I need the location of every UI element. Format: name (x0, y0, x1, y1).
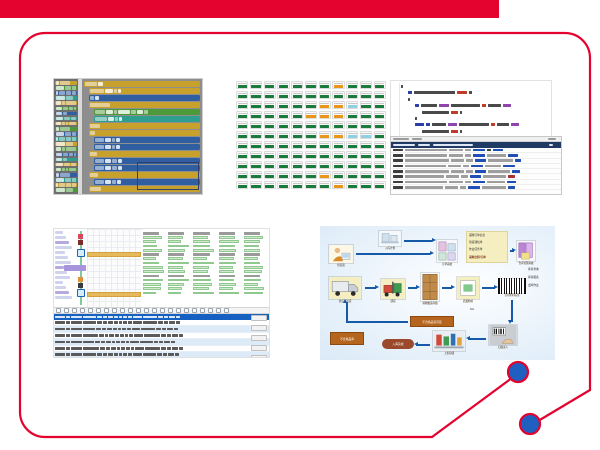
code-block[interactable] (94, 116, 200, 122)
palette-block[interactable] (55, 168, 77, 172)
palette-block[interactable] (55, 91, 77, 95)
status-cell[interactable] (332, 121, 344, 129)
code-line[interactable] (401, 85, 548, 88)
toolbar-button[interactable] (224, 308, 229, 313)
status-cell[interactable] (250, 181, 262, 189)
status-cell[interactable] (319, 151, 331, 159)
node-shelf-storage[interactable]: 上架存储 (432, 330, 466, 355)
status-cell[interactable] (277, 121, 289, 129)
column-heading (219, 275, 235, 278)
status-cell[interactable] (346, 121, 358, 129)
status-cell[interactable] (305, 91, 317, 99)
status-cell[interactable] (291, 101, 303, 109)
toolbar-button[interactable] (112, 308, 117, 313)
status-cell[interactable] (236, 121, 248, 129)
status-cell[interactable] (277, 91, 289, 99)
code-block[interactable] (89, 95, 200, 101)
palette-block[interactable] (55, 101, 77, 105)
toolbar-button[interactable] (120, 308, 125, 313)
palette-block[interactable] (55, 173, 77, 177)
table-side-buttons[interactable] (251, 315, 267, 358)
status-cell[interactable] (305, 161, 317, 169)
spreadsheet-grid-area[interactable] (87, 229, 141, 307)
handheld-scanner-icon (488, 324, 518, 346)
node-inbound-plan-label: 入库计划 (385, 248, 395, 251)
palette-block[interactable] (55, 107, 77, 111)
status-grid-screenshot[interactable] (236, 81, 386, 195)
node-warehouse-mgmt-label: 仓库管理系统 (519, 263, 534, 266)
toolbar-button[interactable] (216, 308, 221, 313)
table-header-cell[interactable] (55, 316, 65, 318)
toolbar-button[interactable] (192, 308, 197, 313)
status-cell[interactable] (291, 111, 303, 119)
arrowhead-9 (466, 336, 470, 340)
status-cell[interactable] (374, 131, 386, 139)
track-flag-2 (78, 240, 83, 245)
node-supplier-person[interactable]: 供应商 (328, 244, 354, 267)
status-cell[interactable] (291, 151, 303, 159)
code-line[interactable] (415, 104, 548, 107)
column-value (168, 287, 182, 290)
track-node-1[interactable] (77, 249, 85, 257)
log-output-screenshot[interactable] (390, 136, 562, 195)
status-cell[interactable] (319, 161, 331, 169)
column-value (219, 262, 237, 265)
status-cell[interactable] (319, 141, 331, 149)
blocks-selection-box (137, 162, 199, 190)
toolbar-button[interactable] (144, 308, 149, 313)
toolbar-button[interactable] (64, 308, 69, 313)
status-cell[interactable] (319, 111, 331, 119)
status-cell[interactable] (264, 131, 276, 139)
status-cell[interactable] (264, 81, 276, 89)
status-cell[interactable] (305, 81, 317, 89)
status-cell[interactable] (319, 101, 331, 109)
status-cell[interactable] (236, 81, 248, 89)
status-cell[interactable] (305, 121, 317, 129)
status-cell[interactable] (346, 151, 358, 159)
column-value (168, 240, 181, 243)
spreadsheet-toolbar[interactable] (54, 307, 269, 314)
status-cell[interactable] (360, 121, 372, 129)
arrowhead-7 (494, 285, 498, 289)
table-header-cell[interactable] (128, 316, 132, 318)
status-cell[interactable] (374, 111, 386, 119)
node-reject-area[interactable]: 不合格品暂存区 (410, 316, 454, 327)
column-value (244, 292, 263, 295)
status-cell[interactable] (332, 141, 344, 149)
toolbar-button[interactable] (176, 308, 181, 313)
status-cell[interactable] (264, 171, 276, 179)
column-value (244, 287, 265, 290)
column-value (168, 262, 188, 265)
gantt-bar-1[interactable] (87, 252, 141, 257)
table-header-cell[interactable] (71, 316, 82, 318)
status-cell[interactable] (305, 101, 317, 109)
side-chip (55, 266, 64, 269)
side-action-button[interactable] (251, 315, 267, 321)
status-cell[interactable] (236, 141, 248, 149)
status-cell[interactable] (360, 111, 372, 119)
toolbar-button[interactable] (168, 308, 173, 313)
arrowhead-3 (512, 248, 516, 252)
status-cell[interactable] (250, 131, 262, 139)
status-cell[interactable] (305, 171, 317, 179)
status-cell[interactable] (250, 161, 262, 169)
status-cell[interactable] (360, 181, 372, 189)
side-chip (55, 246, 72, 249)
status-cell[interactable] (305, 131, 317, 139)
track-flag-3 (78, 277, 83, 282)
code-lines[interactable] (401, 85, 548, 142)
status-cell[interactable] (346, 171, 358, 179)
status-cell[interactable] (236, 171, 248, 179)
status-cell[interactable] (277, 161, 289, 169)
status-cell[interactable] (277, 131, 289, 139)
toolbar-button[interactable] (80, 308, 85, 313)
spreadsheet-node-track[interactable] (76, 229, 87, 307)
table-header-cell[interactable] (66, 316, 70, 318)
status-cell[interactable] (332, 91, 344, 99)
status-cell[interactable] (332, 81, 344, 89)
palette-block[interactable] (55, 158, 77, 162)
slide-canvas: 供应商 入库计划 订单系统 采购订单信息 到货通知单 作 (0, 0, 600, 450)
code-block[interactable] (89, 102, 200, 108)
node-quality-check[interactable]: 质量检验 (456, 276, 480, 303)
status-cell[interactable] (374, 161, 386, 169)
side-action-button[interactable] (251, 345, 267, 351)
palette-block[interactable] (55, 81, 77, 85)
code-block[interactable] (89, 151, 200, 157)
status-cell[interactable] (277, 171, 289, 179)
code-block[interactable] (89, 123, 200, 129)
status-cell[interactable] (305, 141, 317, 149)
status-cell[interactable] (291, 121, 303, 129)
status-cell[interactable] (250, 91, 262, 99)
table-header-cell[interactable] (119, 316, 123, 318)
status-cell[interactable] (264, 121, 276, 129)
status-cell[interactable] (291, 91, 303, 99)
code-line[interactable] (422, 111, 548, 114)
column-heading (193, 253, 209, 256)
code-line[interactable] (408, 91, 548, 94)
side-label-2: 库存报表 (528, 276, 539, 279)
status-cell[interactable] (291, 181, 303, 189)
code-line[interactable] (408, 98, 548, 101)
palette-block[interactable] (55, 153, 77, 157)
status-cell[interactable] (374, 171, 386, 179)
spreadsheet-screenshot[interactable] (53, 228, 270, 358)
palette-block[interactable] (55, 163, 77, 167)
log-rows[interactable] (391, 148, 561, 190)
toolbar-button[interactable] (56, 308, 61, 313)
status-cell[interactable] (374, 91, 386, 99)
status-cell[interactable] (332, 111, 344, 119)
side-chip (55, 236, 66, 239)
code-line[interactable] (415, 117, 548, 120)
code-block[interactable] (94, 144, 200, 150)
palette-block[interactable] (55, 137, 77, 141)
node-supplier-person-label: 供应商 (337, 265, 344, 268)
toolbar-button[interactable] (152, 308, 157, 313)
status-cell[interactable] (346, 161, 358, 169)
plan-desk-icon (378, 230, 402, 247)
table-row[interactable] (54, 352, 269, 358)
side-chip (55, 256, 68, 259)
status-cell[interactable] (277, 101, 289, 109)
status-cell[interactable] (305, 181, 317, 189)
code-line[interactable] (422, 130, 548, 133)
data-table[interactable] (54, 314, 269, 358)
palette-block[interactable] (55, 112, 77, 116)
status-cell[interactable] (236, 101, 248, 109)
palette-block[interactable] (55, 127, 77, 131)
status-cell[interactable] (291, 161, 303, 169)
inspection-doc-icon (456, 276, 480, 300)
status-cell[interactable] (250, 81, 262, 89)
toolbar-button[interactable] (104, 308, 109, 313)
column-value (143, 292, 156, 295)
palette-block[interactable] (55, 117, 77, 121)
status-cell[interactable] (360, 81, 372, 89)
status-cell[interactable] (319, 131, 331, 139)
status-cell[interactable] (236, 111, 248, 119)
blocks-canvas[interactable] (82, 79, 202, 194)
computer-stack-icon (436, 239, 458, 263)
status-cell[interactable] (264, 181, 276, 189)
column-value (193, 257, 206, 260)
palette-block[interactable] (55, 122, 77, 126)
node-warehouse-mgmt[interactable]: 仓库管理系统 (516, 240, 536, 265)
status-cell[interactable] (264, 91, 276, 99)
column-value (219, 266, 234, 269)
blocks-editor-screenshot[interactable] (53, 78, 203, 195)
side-chip (55, 261, 71, 264)
node-quality-check-label: 质量检验 (463, 301, 473, 304)
status-cell[interactable] (264, 151, 276, 159)
status-cell[interactable] (264, 161, 276, 169)
status-cell[interactable] (319, 171, 331, 179)
status-cell[interactable] (236, 151, 248, 159)
table-header-cell[interactable] (123, 316, 127, 318)
status-cell[interactable] (360, 141, 372, 149)
status-grid-cells[interactable] (236, 81, 386, 189)
person-desk-icon (328, 244, 354, 264)
gantt-bar-2[interactable] (87, 292, 141, 297)
palette-block[interactable] (55, 147, 77, 151)
status-cell[interactable] (360, 131, 372, 139)
table-header-cell[interactable] (103, 316, 107, 318)
toolbar-button[interactable] (160, 308, 165, 313)
toolbar-button[interactable] (208, 308, 213, 313)
table-header-cell[interactable] (108, 316, 113, 318)
status-cell[interactable] (264, 111, 276, 119)
status-cell[interactable] (250, 171, 262, 179)
toolbar-button[interactable] (88, 308, 93, 313)
column-value (193, 283, 212, 286)
column-heading (244, 275, 260, 278)
status-cell[interactable] (236, 161, 248, 169)
column-value (244, 270, 263, 273)
node-order-system-label: 订单系统 (442, 264, 452, 267)
toolbar-button[interactable] (96, 308, 101, 313)
column-value (244, 240, 260, 243)
status-cell[interactable] (250, 141, 262, 149)
code-block[interactable] (89, 88, 200, 94)
side-action-button[interactable] (251, 335, 267, 341)
status-cell[interactable] (277, 181, 289, 189)
code-block[interactable] (94, 137, 200, 143)
status-cell[interactable] (332, 171, 344, 179)
node-scan-input[interactable]: 扫描录入 (488, 324, 518, 349)
table-header-cell[interactable] (158, 316, 163, 318)
status-cell[interactable] (360, 91, 372, 99)
status-cell[interactable] (332, 101, 344, 109)
table-header-cell[interactable] (164, 316, 168, 318)
table-header-cell[interactable] (176, 316, 180, 318)
status-cell[interactable] (319, 91, 331, 99)
status-cell[interactable] (250, 121, 262, 129)
column-value (143, 270, 164, 273)
track-flag-4 (78, 283, 83, 288)
status-cell[interactable] (291, 81, 303, 89)
status-cell[interactable] (346, 111, 358, 119)
table-header-cell[interactable] (133, 316, 142, 318)
node-inbound-plan[interactable]: 入库计划 (378, 230, 402, 250)
spreadsheet-upper-pane[interactable] (54, 229, 269, 307)
status-cell[interactable] (250, 111, 262, 119)
column-heading (143, 232, 159, 235)
status-cell[interactable] (332, 161, 344, 169)
log-row[interactable] (391, 185, 561, 190)
toolbar-button[interactable] (184, 308, 189, 313)
node-barcode-print-label: 打印条码标签 (505, 295, 520, 298)
table-header-cell[interactable] (83, 316, 97, 318)
column-value (193, 270, 208, 273)
status-cell[interactable] (332, 181, 344, 189)
table-body[interactable] (54, 320, 269, 358)
palette-block[interactable] (55, 86, 77, 90)
status-cell[interactable] (277, 151, 289, 159)
arrowhead-2 (432, 238, 436, 242)
node-barcode-print[interactable]: 打印条码标签 (498, 278, 526, 297)
status-cell[interactable] (319, 121, 331, 129)
column-value (168, 236, 183, 239)
code-editor-screenshot[interactable] (390, 80, 552, 142)
node-unload-forklift[interactable]: 卸货 (380, 278, 406, 303)
status-cell[interactable] (291, 171, 303, 179)
status-cell[interactable] (374, 81, 386, 89)
column-heading (168, 232, 184, 235)
status-cell[interactable] (346, 81, 358, 89)
status-cell[interactable] (319, 81, 331, 89)
palette-block[interactable] (55, 188, 77, 192)
status-cell[interactable] (346, 101, 358, 109)
node-order-system[interactable]: 订单系统 (436, 239, 458, 266)
palette-block[interactable] (55, 183, 77, 187)
table-header-cell[interactable] (169, 316, 175, 318)
palette-block[interactable] (55, 178, 77, 182)
arrowhead-1 (430, 251, 434, 255)
arrowhead-6 (451, 285, 455, 289)
status-cell[interactable] (332, 131, 344, 139)
side-chip (55, 251, 65, 254)
node-receive-cartons[interactable]: 验收搬运存储 (420, 272, 440, 305)
status-cell[interactable] (332, 151, 344, 159)
status-cell[interactable] (291, 131, 303, 139)
table-header-cell[interactable] (114, 316, 118, 318)
toolbar-button[interactable] (128, 308, 133, 313)
status-cell[interactable] (360, 161, 372, 169)
status-cell[interactable] (346, 141, 358, 149)
track-flag-1 (78, 234, 83, 239)
status-cell[interactable] (277, 111, 289, 119)
status-cell[interactable] (277, 81, 289, 89)
status-cell[interactable] (374, 151, 386, 159)
palette-block[interactable] (55, 132, 77, 136)
status-cell[interactable] (374, 181, 386, 189)
node-reject-store[interactable]: 不合格品库 (330, 332, 364, 345)
column-value (219, 292, 239, 295)
status-cell[interactable] (360, 171, 372, 179)
status-cell[interactable] (374, 101, 386, 109)
arrowhead-4 (375, 285, 379, 289)
side-chip (55, 286, 66, 289)
status-cell[interactable] (319, 181, 331, 189)
table-header-cell[interactable] (143, 316, 158, 318)
code-line[interactable] (415, 123, 548, 126)
toolbar-button[interactable] (72, 308, 77, 313)
status-cell[interactable] (250, 151, 262, 159)
track-node-2[interactable] (77, 289, 85, 297)
toolbar-button[interactable] (136, 308, 141, 313)
status-cell[interactable] (264, 141, 276, 149)
column-heading (193, 232, 209, 235)
palette-block[interactable] (55, 142, 77, 146)
warehouse-flow-diagram[interactable]: 供应商 入库计划 订单系统 采购订单信息 到货通知单 作 (320, 226, 555, 360)
status-cell[interactable] (346, 131, 358, 139)
blocks-palette[interactable] (54, 79, 78, 194)
status-cell[interactable] (250, 101, 262, 109)
column-value (244, 279, 261, 282)
toolbar-button[interactable] (200, 308, 205, 313)
status-cell[interactable] (360, 101, 372, 109)
forklift-icon (380, 278, 406, 300)
status-cell[interactable] (346, 91, 358, 99)
column-value (168, 292, 181, 295)
status-cell[interactable] (236, 91, 248, 99)
table-header-cell[interactable] (97, 316, 102, 318)
status-cell[interactable] (360, 151, 372, 159)
status-cell[interactable] (346, 181, 358, 189)
code-block[interactable] (89, 130, 200, 136)
status-cell[interactable] (305, 151, 317, 159)
status-cell[interactable] (236, 131, 248, 139)
node-purchase-docs[interactable]: 采购订单信息 到货通知单 作业任务单 采购合同/订单 (466, 231, 508, 263)
status-cell[interactable] (374, 141, 386, 149)
status-cell[interactable] (305, 111, 317, 119)
code-block[interactable] (84, 81, 200, 87)
node-inbound-complete[interactable]: 入库完成 (382, 339, 414, 349)
status-cell[interactable] (291, 141, 303, 149)
palette-block[interactable] (55, 96, 77, 100)
side-action-button[interactable] (251, 325, 267, 331)
status-cell[interactable] (236, 181, 248, 189)
status-cell[interactable] (277, 141, 289, 149)
status-cell[interactable] (264, 101, 276, 109)
code-block[interactable] (94, 109, 200, 115)
status-cell[interactable] (374, 121, 386, 129)
